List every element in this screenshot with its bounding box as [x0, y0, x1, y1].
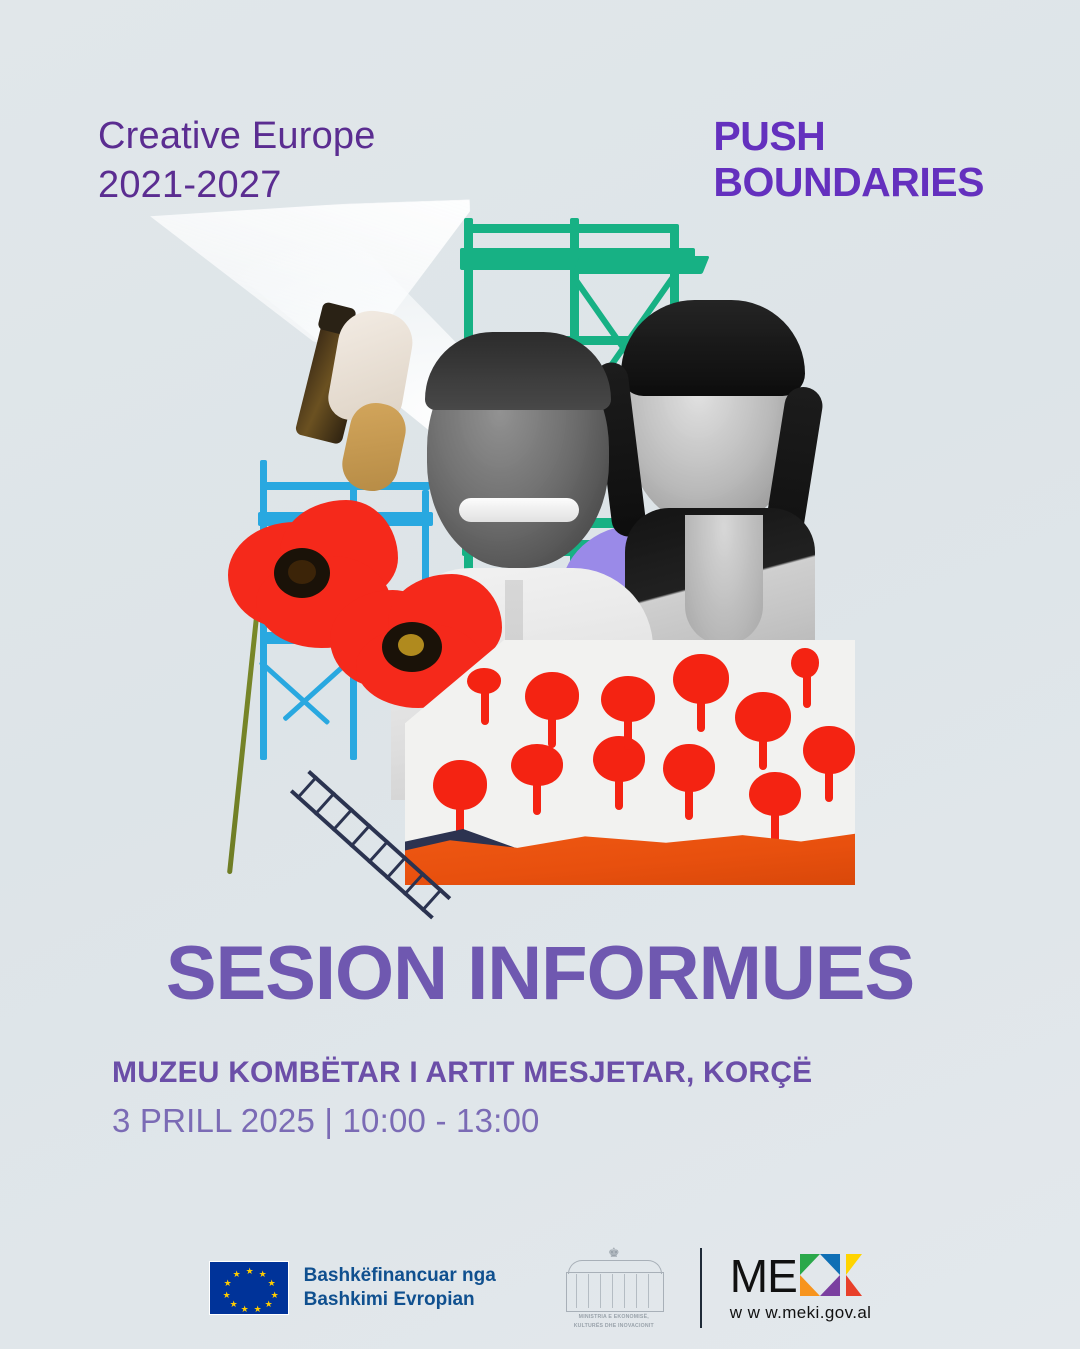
slogan-line-1: PUSH — [713, 113, 825, 159]
ministry-crest-icon: ♚ — [558, 1247, 670, 1258]
eu-text-line-1: Bashkëfinancuar nga — [304, 1264, 496, 1288]
ministry-building-icon — [562, 1260, 666, 1312]
venue-text: MUZEU KOMBËTAR I ARTIT MESJETAR, KORÇË — [112, 1056, 812, 1090]
spray-can-hand — [300, 285, 430, 485]
brand-line-1: Creative Europe — [98, 115, 376, 157]
orange-paint-band — [405, 821, 855, 885]
meki-wordmark: ME — [730, 1256, 797, 1296]
poster-canvas: Creative Europe 2021-2027 PUSH BOUNDARIE… — [0, 0, 1080, 1349]
datetime-text: 3 PRILL 2025 | 10:00 - 13:00 — [112, 1102, 540, 1140]
paint-dots-panel — [405, 640, 855, 885]
collage-artwork — [0, 170, 1080, 930]
eu-flag-icon: ★ ★ ★ ★ ★ ★ ★ ★ ★ ★ ★ ★ — [209, 1261, 289, 1315]
ministry-caption-line-1: MINISTRIA E EKONOMISË, — [558, 1314, 670, 1320]
eu-cofunding-logo: ★ ★ ★ ★ ★ ★ ★ ★ ★ ★ ★ ★ Bashkëfinancuar … — [209, 1261, 496, 1315]
meki-logo[interactable]: ME w w w.meki.gov.al — [730, 1254, 872, 1323]
page-title: SESION INFORMUES — [0, 930, 1080, 1017]
meki-url[interactable]: w w w.meki.gov.al — [730, 1303, 872, 1323]
eu-cofunding-text: Bashkëfinancuar nga Bashkimi Evropian — [304, 1264, 496, 1313]
footer-logos: ★ ★ ★ ★ ★ ★ ★ ★ ★ ★ ★ ★ Bashkëfinancuar … — [0, 1238, 1080, 1338]
ministry-caption-line-2: KULTURËS DHE INOVACIONIT — [558, 1323, 670, 1329]
ministry-logo: ♚ MINISTRIA E EKONOMISË, KULTURËS DHE IN… — [558, 1247, 670, 1329]
footer-divider — [700, 1248, 702, 1328]
eu-text-line-2: Bashkimi Evropian — [304, 1288, 496, 1312]
meki-colored-mark-icon — [800, 1254, 862, 1296]
